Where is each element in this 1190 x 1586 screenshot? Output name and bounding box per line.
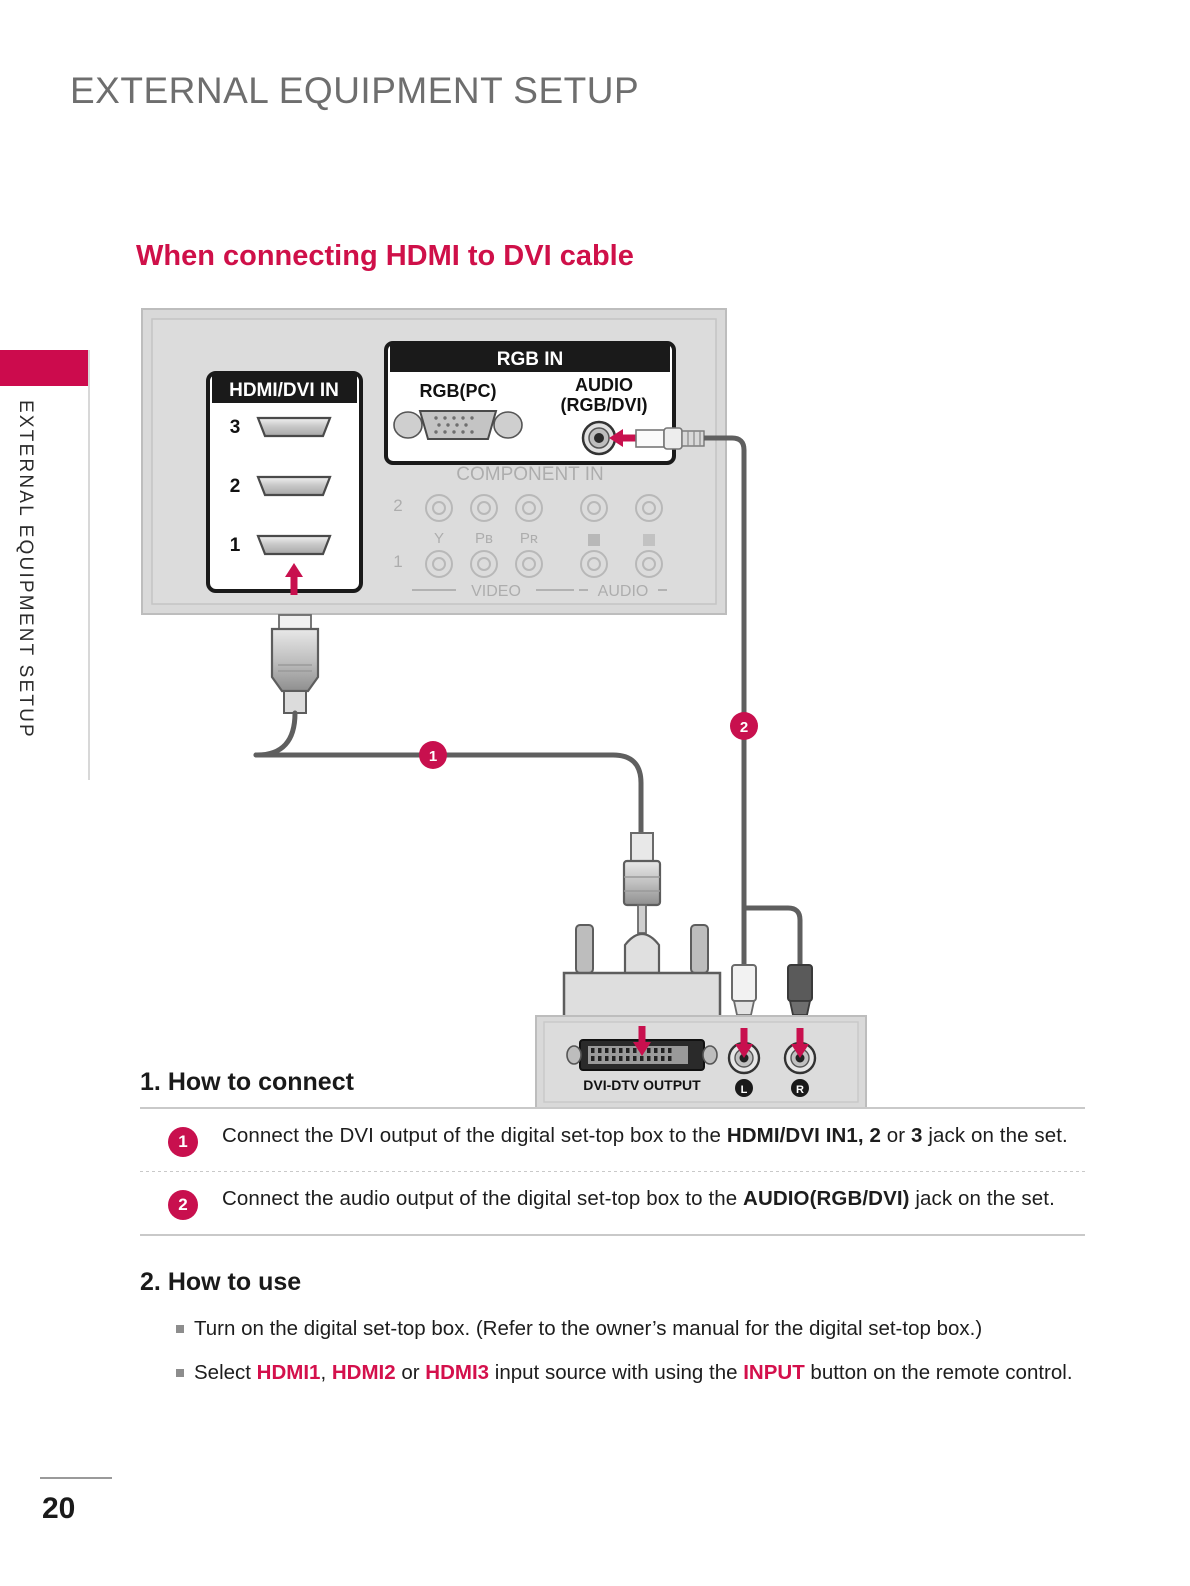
step1-bold2: 3 <box>911 1124 923 1147</box>
component-signal-pb: Pʙ <box>475 530 493 547</box>
use2-hdmi2: HDMI2 <box>332 1361 396 1384</box>
hdmi-cable-upper <box>256 713 295 755</box>
step2-post: jack on the set. <box>910 1187 1055 1210</box>
connection-diagram: HDMI/DVI IN 3 2 1 RGB IN RGB(PC) <box>136 305 1086 1035</box>
how-to-use-heading: 2. How to use <box>140 1268 1073 1297</box>
hdmi-dvi-in-block: HDMI/DVI IN 3 2 1 <box>208 373 361 595</box>
use2-p4: input source with using the <box>489 1361 743 1384</box>
audio-plug-tv-end <box>636 428 704 449</box>
step-badge-2: 2 <box>168 1190 198 1220</box>
callout-marker-1: 1 <box>419 741 447 769</box>
component-signal-y: Y <box>434 530 444 547</box>
svg-text:2: 2 <box>740 719 748 736</box>
bullet-square-icon <box>176 1369 184 1377</box>
footer-divider <box>40 1477 112 1479</box>
use2-p1: Select <box>194 1361 257 1384</box>
rgb-block-label: RGB IN <box>497 349 564 370</box>
bullet-square-icon <box>176 1325 184 1333</box>
connect-step-2: 2 Connect the audio output of the digita… <box>140 1172 1085 1234</box>
step-text-2: Connect the audio output of the digital … <box>222 1188 1055 1211</box>
how-to-connect-section: 1. How to connect 1 Connect the DVI outp… <box>140 1068 1085 1236</box>
sidebar-accent-tab <box>0 350 88 386</box>
step2-bold: AUDIO(RGB/DVI) <box>743 1187 910 1210</box>
step1-mid: or <box>881 1124 911 1147</box>
step2-pre: Connect the audio output of the digital … <box>222 1187 743 1210</box>
audio-rgbdvi-label-1: AUDIO <box>575 375 633 395</box>
component-row-2: 2 <box>393 496 402 515</box>
use-bullet-2: Select HDMI1, HDMI2 or HDMI3 input sourc… <box>176 1361 1073 1385</box>
component-video-label: VIDEO <box>471 583 521 600</box>
use2-hdmi3: HDMI3 <box>425 1361 489 1384</box>
connect-step-1: 1 Connect the DVI output of the digital … <box>140 1109 1085 1171</box>
step-badge-1: 1 <box>168 1127 198 1157</box>
audio-plug-right-stb <box>788 965 812 1015</box>
page-number: 20 <box>42 1492 75 1526</box>
component-signal-pr: Pʀ <box>520 530 538 547</box>
use-bullet-1: Turn on the digital set-top box. (Refer … <box>176 1317 1073 1341</box>
step1-pre: Connect the DVI output of the digital se… <box>222 1124 727 1147</box>
sidebar-section-label: EXTERNAL EQUIPMENT SETUP <box>14 400 36 740</box>
dvi-plug-assembly <box>564 833 720 1017</box>
how-to-connect-heading: 1. How to connect <box>140 1068 1085 1097</box>
vga-port <box>394 411 522 439</box>
how-to-use-section: 2. How to use Turn on the digital set-to… <box>140 1268 1073 1385</box>
component-row-1: 1 <box>393 552 402 571</box>
component-in-label: COMPONENT IN <box>456 464 603 485</box>
tv-rear-panel: HDMI/DVI IN 3 2 1 RGB IN RGB(PC) <box>142 309 726 614</box>
rgb-in-block: RGB IN RGB(PC) AUDIO (RGB/DVI) <box>386 343 674 463</box>
section-title: When connecting HDMI to DVI cable <box>136 240 634 273</box>
use2-hdmi1: HDMI1 <box>257 1361 321 1384</box>
hdmi-cable-lower <box>256 755 641 833</box>
use2-input: INPUT <box>743 1361 805 1384</box>
hdmi-port-number-2: 2 <box>230 476 241 497</box>
hdmi-port-number-3: 3 <box>230 417 241 438</box>
step-text-1: Connect the DVI output of the digital se… <box>222 1125 1068 1148</box>
component-audio-label: AUDIO <box>598 583 649 600</box>
hdmi-block-label: HDMI/DVI IN <box>229 380 339 401</box>
use-bullet-2-text: Select HDMI1, HDMI2 or HDMI3 input sourc… <box>194 1361 1073 1385</box>
use2-p2: , <box>320 1361 331 1384</box>
callout-marker-2: 2 <box>730 712 758 740</box>
use-bullet-1-text: Turn on the digital set-top box. (Refer … <box>194 1317 982 1341</box>
rgb-pc-label: RGB(PC) <box>420 381 497 401</box>
use2-p3: or <box>396 1361 426 1384</box>
use2-p5: button on the remote control. <box>805 1361 1073 1384</box>
step1-post: jack on the set. <box>923 1124 1068 1147</box>
step1-bold: HDMI/DVI IN1, 2 <box>727 1124 881 1147</box>
hdmi-plug-tv-end <box>272 615 318 713</box>
hdmi-port-number-1: 1 <box>230 535 241 556</box>
sidebar-divider <box>88 350 90 780</box>
divider-bottom <box>140 1234 1085 1236</box>
audio-plug-left-stb <box>732 965 756 1015</box>
svg-text:1: 1 <box>429 748 437 765</box>
page-title: EXTERNAL EQUIPMENT SETUP <box>70 70 639 112</box>
audio-rgbdvi-label-2: (RGB/DVI) <box>561 395 648 415</box>
